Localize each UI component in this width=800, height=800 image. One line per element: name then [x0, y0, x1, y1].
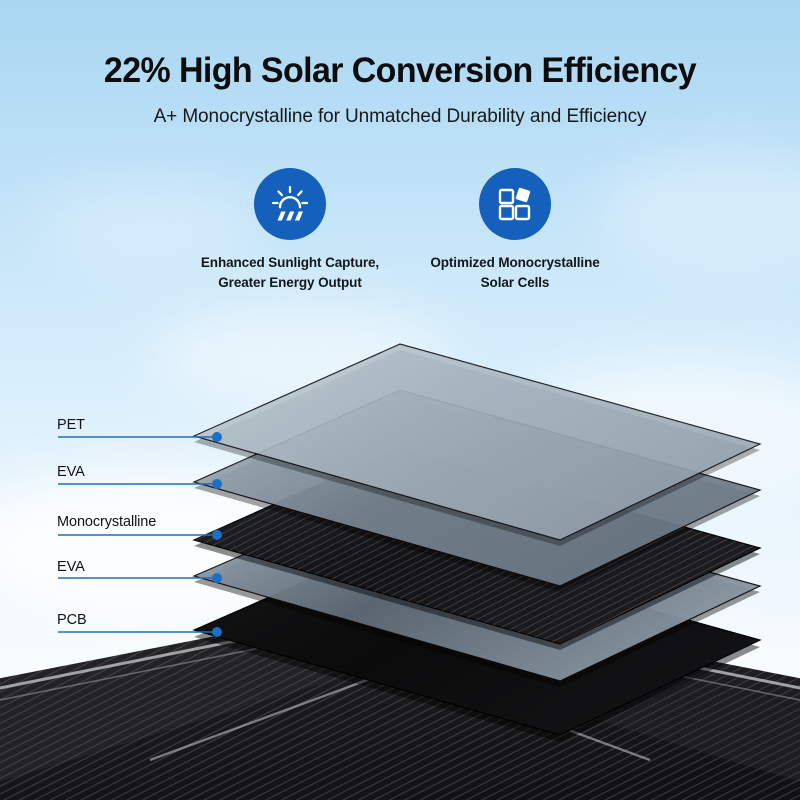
monocrystalline-cells-grid-icon: [479, 168, 551, 240]
feature-caption: Enhanced Sunlight Capture, Greater Energ…: [170, 253, 410, 292]
feature-item-sunlight-capture: Enhanced Sunlight Capture, Greater Energ…: [170, 168, 410, 292]
feature-item-monocrystalline-cells: Optimized Monocrystalline Solar Cells: [395, 168, 635, 292]
sun-over-solar-panel-icon: [254, 168, 326, 240]
feature-caption-line-2: Solar Cells: [395, 273, 635, 293]
layer-label-pcb: PCB: [57, 612, 87, 628]
layer-label-eva-upper: EVA: [57, 464, 85, 480]
feature-caption-line-1: Enhanced Sunlight Capture,: [170, 253, 410, 273]
infographic-stage: PET EVA Monocrystalline EVA PCB 22% High…: [0, 0, 800, 800]
feature-caption-line-2: Greater Energy Output: [170, 273, 410, 293]
layer-label-pet: PET: [57, 417, 85, 433]
feature-caption-line-1: Optimized Monocrystalline: [395, 253, 635, 273]
layer-label-monocrystalline: Monocrystalline: [57, 514, 156, 530]
page-subtitle: A+ Monocrystalline for Unmatched Durabil…: [0, 89, 800, 128]
header: 22% High Solar Conversion Efficiency A+ …: [0, 0, 800, 128]
feature-caption: Optimized Monocrystalline Solar Cells: [395, 253, 635, 292]
page-title: 22% High Solar Conversion Efficiency: [12, 0, 788, 89]
layer-label-eva-lower: EVA: [57, 559, 85, 575]
